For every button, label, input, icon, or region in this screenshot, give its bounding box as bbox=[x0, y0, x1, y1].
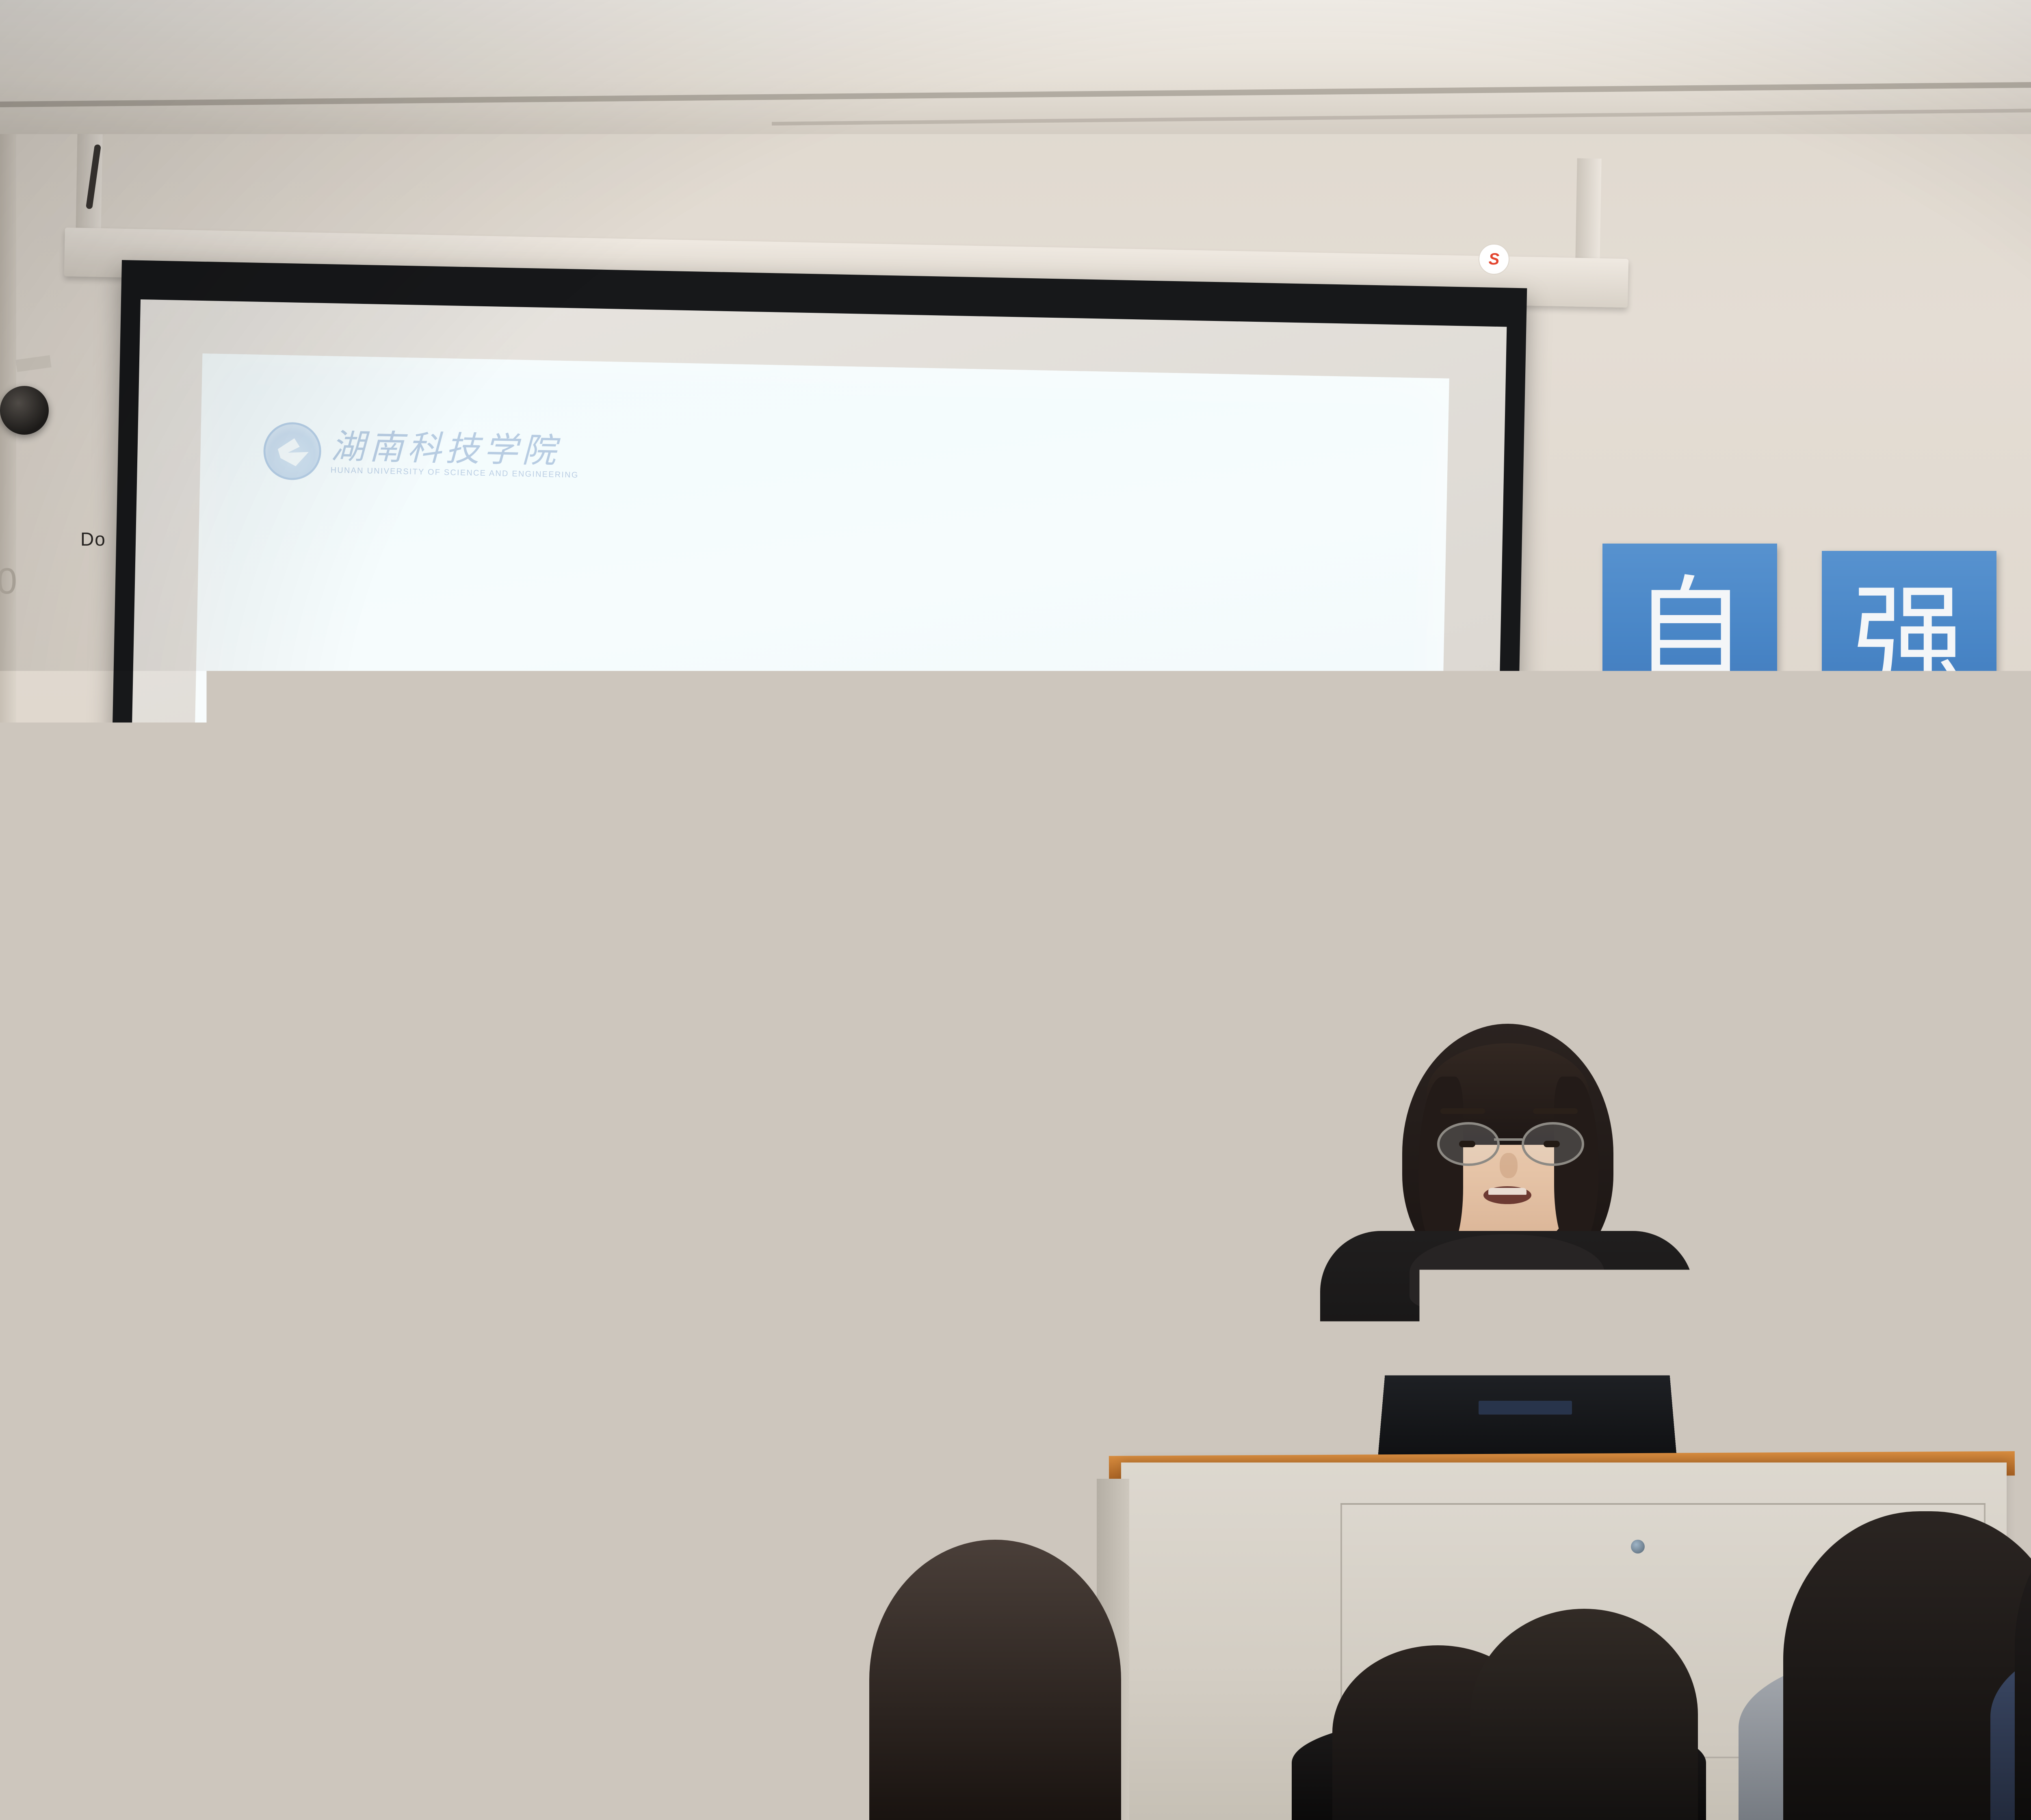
badge-logo-icon: M bbox=[1512, 1401, 1537, 1426]
motto-char-1: 自 bbox=[1602, 544, 1777, 718]
presenter-teeth bbox=[1488, 1188, 1526, 1195]
presenter-id-badge: M 马克思主义学院团学联 工作证 ★ bbox=[1478, 1393, 1571, 1519]
handheld-microphone-icon bbox=[45, 1353, 79, 1387]
presenter-nose bbox=[1500, 1153, 1518, 1178]
motto-char-2: 强 bbox=[1822, 551, 1996, 726]
wall-motto-signs: 自 强 不 息 bbox=[1602, 536, 2031, 756]
podium-lock-icon[interactable] bbox=[1631, 1540, 1645, 1553]
bird-decal-1 bbox=[12, 760, 44, 772]
blackboard-credit-2: 马克思主义学院分团委创新创业部 bbox=[1958, 1346, 2031, 1395]
presenter-brow-right bbox=[1533, 1108, 1578, 1114]
slide-logo-cn: 湖南科技学院 bbox=[331, 429, 580, 468]
audience-head-9 bbox=[219, 1698, 431, 1820]
screen-surface: 湖南科技学院 HUNAN UNIVERSITY OF SCIENCE AND E… bbox=[121, 299, 1507, 1302]
presenter-brow-left bbox=[1440, 1108, 1485, 1114]
blackboard-divider bbox=[2021, 814, 2031, 1566]
slide-credit-date: 二〇二〇年四月十九日 bbox=[920, 1170, 1384, 1222]
wall-decal-text: Do bbox=[80, 528, 106, 550]
presenter: M 马克思主义学院团学联 工作证 ★ bbox=[1316, 1012, 1698, 1499]
blackboard-credit-1: 共青团湖南科技学院委员会 bbox=[1989, 1261, 2031, 1311]
badge-detail-rows bbox=[1486, 1482, 1531, 1507]
ceiling-sensor-icon bbox=[0, 386, 49, 435]
lanyard-clip-icon bbox=[1510, 1376, 1526, 1396]
classroom-scene: Do 0 S 湖南科技学院 HUNAN UNIVERSITY OF SCIENC… bbox=[0, 0, 2031, 1820]
screen-brand-icon: S bbox=[1479, 244, 1509, 275]
badge-photo bbox=[1511, 1450, 1538, 1485]
badge-type-text: 工作证 bbox=[1480, 1436, 1569, 1451]
wall-marking-text: 0 bbox=[0, 561, 17, 602]
projection-screen: 湖南科技学院 HUNAN UNIVERSITY OF SCIENCE AND E… bbox=[101, 260, 1527, 1328]
slide-title: 马克思主义学院创新创业部 “青春向党，时代向上”党史教育活动 bbox=[192, 711, 1442, 884]
zipper-pull-icon bbox=[1500, 1324, 1514, 1347]
projected-slide: 湖南科技学院 HUNAN UNIVERSITY OF SCIENCE AND E… bbox=[185, 353, 1449, 1264]
university-emblem-icon bbox=[263, 422, 322, 481]
badge-official-stamp-icon: ★ bbox=[1529, 1475, 1568, 1515]
side-desk bbox=[0, 1401, 250, 1820]
audience-head-2 bbox=[869, 1540, 1121, 1820]
blackboard-line-1: 马克思主义学院 bbox=[1635, 941, 1999, 1013]
slide-university-logo: 湖南科技学院 HUNAN UNIVERSITY OF SCIENCE AND E… bbox=[263, 422, 580, 486]
audience-head-4 bbox=[1470, 1609, 1698, 1820]
